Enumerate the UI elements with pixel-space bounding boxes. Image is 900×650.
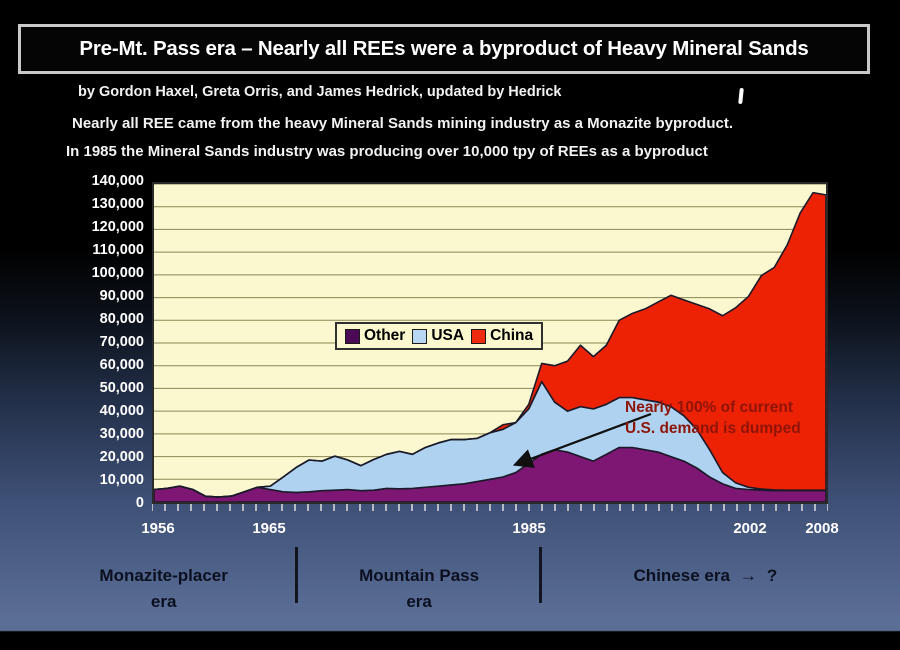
- y-tick-label: 120,000: [44, 220, 144, 235]
- y-tick-label: 60,000: [44, 358, 144, 373]
- title-bar: Pre-Mt. Pass era – Nearly all REEs were …: [18, 24, 870, 74]
- x-axis-ticks: [152, 504, 828, 513]
- era-subtitle: era: [38, 589, 289, 615]
- bullet-line-2: In 1985 the Mineral Sands industry was p…: [66, 143, 708, 160]
- annotation-line-2: U.S. demand is dumped: [625, 419, 801, 440]
- legend-swatch-icon: [412, 329, 427, 344]
- y-tick-label: 50,000: [44, 381, 144, 396]
- y-tick-label: 90,000: [44, 289, 144, 304]
- era-arrow-icon: →: [730, 566, 767, 585]
- legend-label: China: [490, 327, 533, 345]
- chart-region: 010,00020,00030,00040,00050,00060,00070,…: [0, 170, 900, 530]
- x-tick-label: 1965: [252, 520, 285, 537]
- x-tick-label: 2008: [805, 520, 838, 537]
- y-tick-label: 10,000: [44, 473, 144, 488]
- era-label-3: Chinese era→?: [549, 563, 862, 589]
- legend-label: USA: [431, 327, 464, 345]
- y-tick-label: 140,000: [44, 174, 144, 189]
- y-tick-label: 130,000: [44, 197, 144, 212]
- chart-annotation: Nearly 100% of current U.S. demand is du…: [625, 398, 801, 440]
- y-tick-label: 110,000: [44, 243, 144, 258]
- era-label-2: Mountain Passera: [306, 563, 533, 614]
- y-tick-label: 40,000: [44, 404, 144, 419]
- era-suffix: ?: [767, 566, 777, 585]
- era-title: Monazite-placer: [38, 563, 289, 589]
- y-tick-label: 0: [44, 496, 144, 511]
- y-tick-label: 100,000: [44, 266, 144, 281]
- y-axis: 010,00020,00030,00040,00050,00060,00070,…: [44, 170, 144, 520]
- y-tick-label: 80,000: [44, 312, 144, 327]
- era-label-1: Monazite-placerera: [38, 563, 289, 614]
- page-title: Pre-Mt. Pass era – Nearly all REEs were …: [79, 37, 808, 61]
- legend-item: USA: [412, 327, 464, 345]
- y-tick-label: 70,000: [44, 335, 144, 350]
- x-tick-label: 1985: [512, 520, 545, 537]
- era-title: Mountain Pass: [306, 563, 533, 589]
- cursor-artifact: [738, 88, 744, 104]
- bullet-line-1: Nearly all REE came from the heavy Miner…: [72, 115, 733, 132]
- legend-swatch-icon: [471, 329, 486, 344]
- legend-item: China: [471, 327, 533, 345]
- x-tick-label: 1956: [141, 520, 174, 537]
- slide-canvas: Pre-Mt. Pass era – Nearly all REEs were …: [0, 0, 900, 650]
- legend-item: Other: [345, 327, 405, 345]
- chart-legend: OtherUSAChina: [335, 322, 543, 350]
- x-axis: 19561965198520022008: [152, 504, 828, 538]
- x-tick-label: 2002: [733, 520, 766, 537]
- era-title: Chinese era: [634, 566, 730, 585]
- era-band: Monazite-placereraMountain PasseraChines…: [38, 545, 862, 617]
- era-divider-1: [295, 547, 298, 603]
- legend-label: Other: [364, 327, 405, 345]
- byline-text: by Gordon Haxel, Greta Orris, and James …: [78, 84, 562, 100]
- y-tick-label: 20,000: [44, 450, 144, 465]
- era-subtitle: era: [306, 589, 533, 615]
- legend-swatch-icon: [345, 329, 360, 344]
- era-divider-2: [539, 547, 542, 603]
- y-tick-label: 30,000: [44, 427, 144, 442]
- annotation-line-1: Nearly 100% of current: [625, 398, 801, 419]
